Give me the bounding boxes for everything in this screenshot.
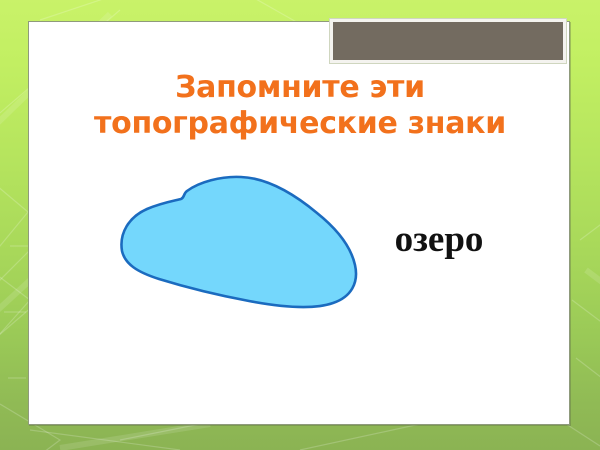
slide-canvas: Запомните эти топографические знаки озер…	[0, 0, 600, 450]
content-panel: Запомните эти топографические знаки озер…	[28, 21, 570, 425]
page-title: Запомните эти топографические знаки	[29, 70, 571, 142]
lake-caption: озеро	[329, 218, 549, 262]
header-placeholder-bar	[329, 18, 567, 64]
lake-shape-icon	[81, 165, 371, 320]
header-placeholder-bar-fill	[333, 22, 563, 60]
